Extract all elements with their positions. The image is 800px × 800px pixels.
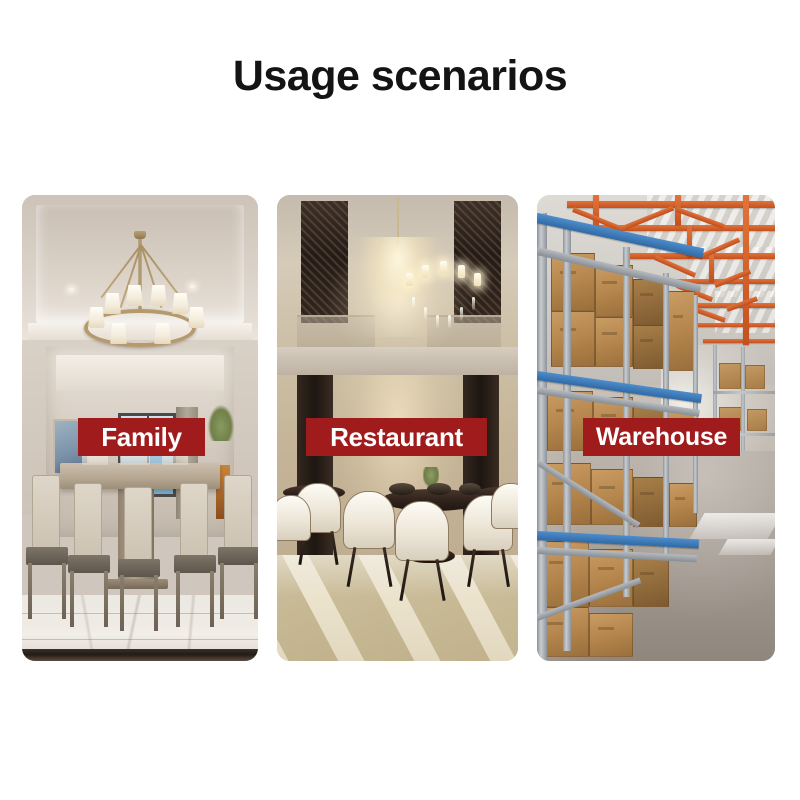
chandelier-shade	[172, 293, 189, 314]
far-cardboard-box	[747, 409, 767, 431]
chandelier-canopy	[134, 231, 146, 239]
chair-back	[124, 487, 152, 561]
chair-leg	[62, 563, 66, 619]
chandelier-crystal	[436, 315, 439, 328]
chandelier-crystal	[460, 307, 463, 320]
chandelier-candle	[440, 261, 447, 274]
chair-back	[180, 483, 208, 557]
chair-leg	[120, 575, 124, 631]
scenario-label-warehouse: Warehouse	[583, 418, 740, 456]
roof-truss-beam	[689, 323, 775, 327]
rack-upright	[563, 221, 571, 651]
chair-leg	[176, 571, 180, 627]
far-rack-upright	[741, 347, 745, 467]
floor-gloss	[277, 555, 518, 661]
chair-back	[491, 483, 518, 529]
chair-back	[224, 475, 252, 549]
far-cardboard-box	[719, 363, 741, 389]
rack-upright	[663, 273, 669, 555]
cardboard-box	[633, 279, 667, 325]
chandelier-shade	[150, 285, 167, 306]
chair-leg	[220, 563, 224, 619]
downlight-icon	[69, 288, 74, 291]
cardboard-box	[551, 311, 595, 367]
cardboard-box	[667, 291, 695, 371]
chair-back	[277, 495, 311, 541]
scenario-card-family[interactable]: Family	[22, 195, 258, 661]
floor-light-patch	[689, 513, 775, 539]
truss-column	[709, 253, 714, 281]
cardboard-box	[589, 613, 633, 657]
table-setting	[389, 483, 415, 495]
page-title: Usage scenarios	[0, 52, 800, 101]
scenario-label-family: Family	[78, 418, 205, 456]
chandelier-crystal	[412, 297, 415, 310]
floor-light-patch	[718, 539, 775, 555]
chair-back	[32, 475, 60, 549]
chandelier-crystal-body	[350, 237, 446, 337]
chandelier-shade	[126, 285, 143, 306]
chair-leg	[154, 575, 158, 631]
tile-seam	[22, 639, 258, 640]
table-setting	[459, 483, 481, 495]
inner-ceiling	[56, 355, 224, 391]
downlight-icon	[190, 285, 195, 288]
cardboard-box	[633, 325, 667, 369]
chandelier-shade	[88, 307, 105, 328]
chandelier-shade	[154, 323, 171, 344]
chair-back	[343, 491, 395, 549]
scenario-gallery: Family	[0, 195, 800, 661]
chandelier-candle	[406, 273, 413, 286]
chandelier-shade	[188, 307, 205, 328]
chair-back	[395, 501, 449, 561]
scenario-label-restaurant: Restaurant	[306, 418, 487, 456]
far-rack-beam	[713, 391, 775, 394]
chandelier-crystal	[472, 297, 475, 310]
dining-table-base	[104, 579, 168, 589]
chair-leg	[254, 563, 258, 619]
rack-upright	[693, 295, 698, 513]
chandelier-shade	[104, 293, 121, 314]
chair-leg	[104, 571, 108, 627]
chair-seat	[218, 547, 258, 565]
chair-leg	[70, 571, 74, 627]
roof-truss-beam	[703, 339, 775, 343]
chandelier-crystal	[448, 315, 451, 328]
marble-striped-floor	[277, 555, 518, 661]
chair-leg	[210, 571, 214, 627]
scenario-card-warehouse[interactable]: Warehouse	[537, 195, 775, 661]
chandelier-candle	[474, 273, 481, 286]
chandelier-shade	[110, 323, 127, 344]
chandelier-candle	[422, 265, 429, 278]
rack-upright	[537, 213, 547, 661]
chandelier-candle	[458, 265, 465, 278]
far-cardboard-box	[745, 365, 765, 389]
chair-leg	[28, 563, 32, 619]
floor-shadow-band	[22, 649, 258, 661]
scenario-card-restaurant[interactable]: Restaurant	[277, 195, 518, 661]
table-setting	[427, 483, 451, 495]
chair-back	[74, 483, 102, 557]
plant	[208, 405, 234, 441]
chandelier-crystal	[424, 307, 427, 320]
